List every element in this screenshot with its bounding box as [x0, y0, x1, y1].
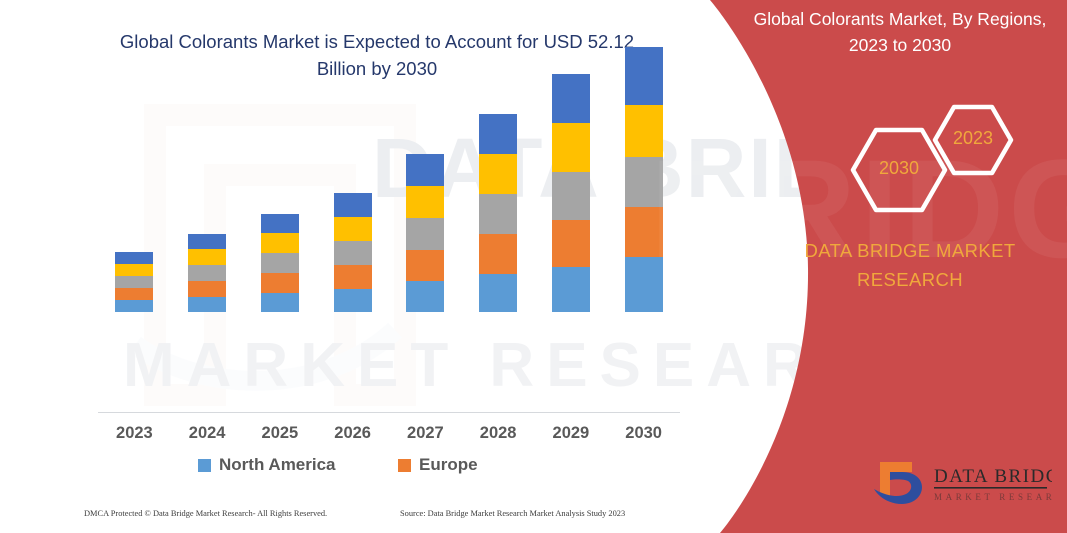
bar-segment	[406, 154, 444, 186]
bar-segment	[479, 274, 517, 312]
x-tick-2024: 2024	[177, 424, 237, 443]
bar-segment	[261, 273, 299, 293]
bar-segment	[115, 300, 153, 312]
bar-segment	[625, 157, 663, 207]
bar-segment	[552, 123, 590, 172]
bar-segment	[188, 249, 226, 265]
bar-segment	[115, 252, 153, 264]
bar-segment	[261, 293, 299, 312]
bar-segment	[625, 257, 663, 312]
bar-2026	[334, 193, 372, 312]
logo-text-line2: MARKET RESEARCH	[934, 492, 1052, 502]
infographic-canvas: DATA BRIDGE MARKET RESEARCH Global Color…	[0, 0, 1067, 533]
bar-segment	[552, 267, 590, 312]
bar-segment	[625, 207, 663, 257]
bar-segment	[115, 276, 153, 288]
x-tick-2027: 2027	[395, 424, 455, 443]
chart-legend: North AmericaEurope	[98, 455, 680, 481]
hexagon-2023-label: 2023	[933, 128, 1013, 149]
x-tick-2023: 2023	[104, 424, 164, 443]
bar-segment	[334, 265, 372, 289]
bar-segment	[406, 281, 444, 312]
bar-segment	[188, 265, 226, 281]
legend-label: Europe	[419, 455, 478, 475]
bar-segment	[334, 241, 372, 265]
bar-2028	[479, 114, 517, 312]
logo-divider	[934, 487, 1047, 489]
panel-brand-text: DATA BRIDGE MARKET RESEARCH	[780, 237, 1040, 294]
bar-segment	[115, 264, 153, 276]
x-tick-2029: 2029	[541, 424, 601, 443]
bar-2024	[188, 234, 226, 312]
panel-title: Global Colorants Market, By Regions, 202…	[740, 6, 1060, 59]
legend-label: North America	[219, 455, 336, 475]
bar-segment	[261, 214, 299, 233]
bar-segment	[552, 74, 590, 123]
bar-segment	[334, 217, 372, 241]
bar-segment	[479, 234, 517, 274]
panel-title-line1: Global Colorants Market, By Regions,	[754, 9, 1047, 29]
footer: DMCA Protected © Data Bridge Market Rese…	[0, 505, 700, 527]
legend-swatch-icon	[398, 459, 411, 472]
data-bridge-logo: DATA BRIDGE MARKET RESEARCH	[872, 456, 1052, 512]
bar-segment	[261, 233, 299, 253]
bar-segment	[334, 193, 372, 217]
x-tick-2028: 2028	[468, 424, 528, 443]
hexagon-2030-label: 2030	[859, 158, 939, 179]
x-tick-2026: 2026	[323, 424, 383, 443]
stacked-bar-chart: 20232024202520262027202820292030 North A…	[0, 0, 700, 433]
bar-2025	[261, 214, 299, 312]
bar-segment	[479, 114, 517, 154]
bar-segment	[479, 154, 517, 194]
legend-swatch-icon	[198, 459, 211, 472]
bar-segment	[406, 218, 444, 250]
bar-2029	[552, 74, 590, 312]
panel-title-line2: 2023 to 2030	[849, 35, 951, 55]
bar-segment	[406, 250, 444, 281]
chart-x-tick-labels: 20232024202520262027202820292030	[98, 424, 680, 448]
bar-segment	[334, 289, 372, 312]
legend-item-europe[interactable]: Europe	[398, 455, 478, 475]
bar-segment	[188, 234, 226, 249]
bar-segment	[188, 297, 226, 312]
bar-segment	[115, 288, 153, 300]
logo-text-line1: DATA BRIDGE	[934, 466, 1052, 487]
bar-2027	[406, 154, 444, 312]
bar-segment	[552, 220, 590, 267]
bar-segment	[479, 194, 517, 234]
bar-segment	[406, 186, 444, 218]
chart-x-axis-line	[98, 412, 680, 413]
bar-segment	[261, 253, 299, 273]
legend-item-north-america[interactable]: North America	[198, 455, 336, 475]
right-red-panel: BRIDGE Global Colorants Market, By Regio…	[680, 0, 1067, 533]
bar-segment	[625, 105, 663, 157]
footer-source: Source: Data Bridge Market Research Mark…	[400, 509, 625, 518]
bar-segment	[625, 47, 663, 105]
bar-segment	[188, 281, 226, 297]
x-tick-2030: 2030	[614, 424, 674, 443]
bar-segment	[552, 172, 590, 220]
bar-2023	[115, 252, 153, 312]
bar-2030	[625, 47, 663, 312]
logo-b-mark	[874, 462, 922, 504]
panel-brand-line2: RESEARCH	[857, 269, 963, 290]
panel-brand-line1: DATA BRIDGE MARKET	[804, 240, 1015, 261]
footer-copyright: DMCA Protected © Data Bridge Market Rese…	[84, 509, 327, 518]
x-tick-2025: 2025	[250, 424, 310, 443]
